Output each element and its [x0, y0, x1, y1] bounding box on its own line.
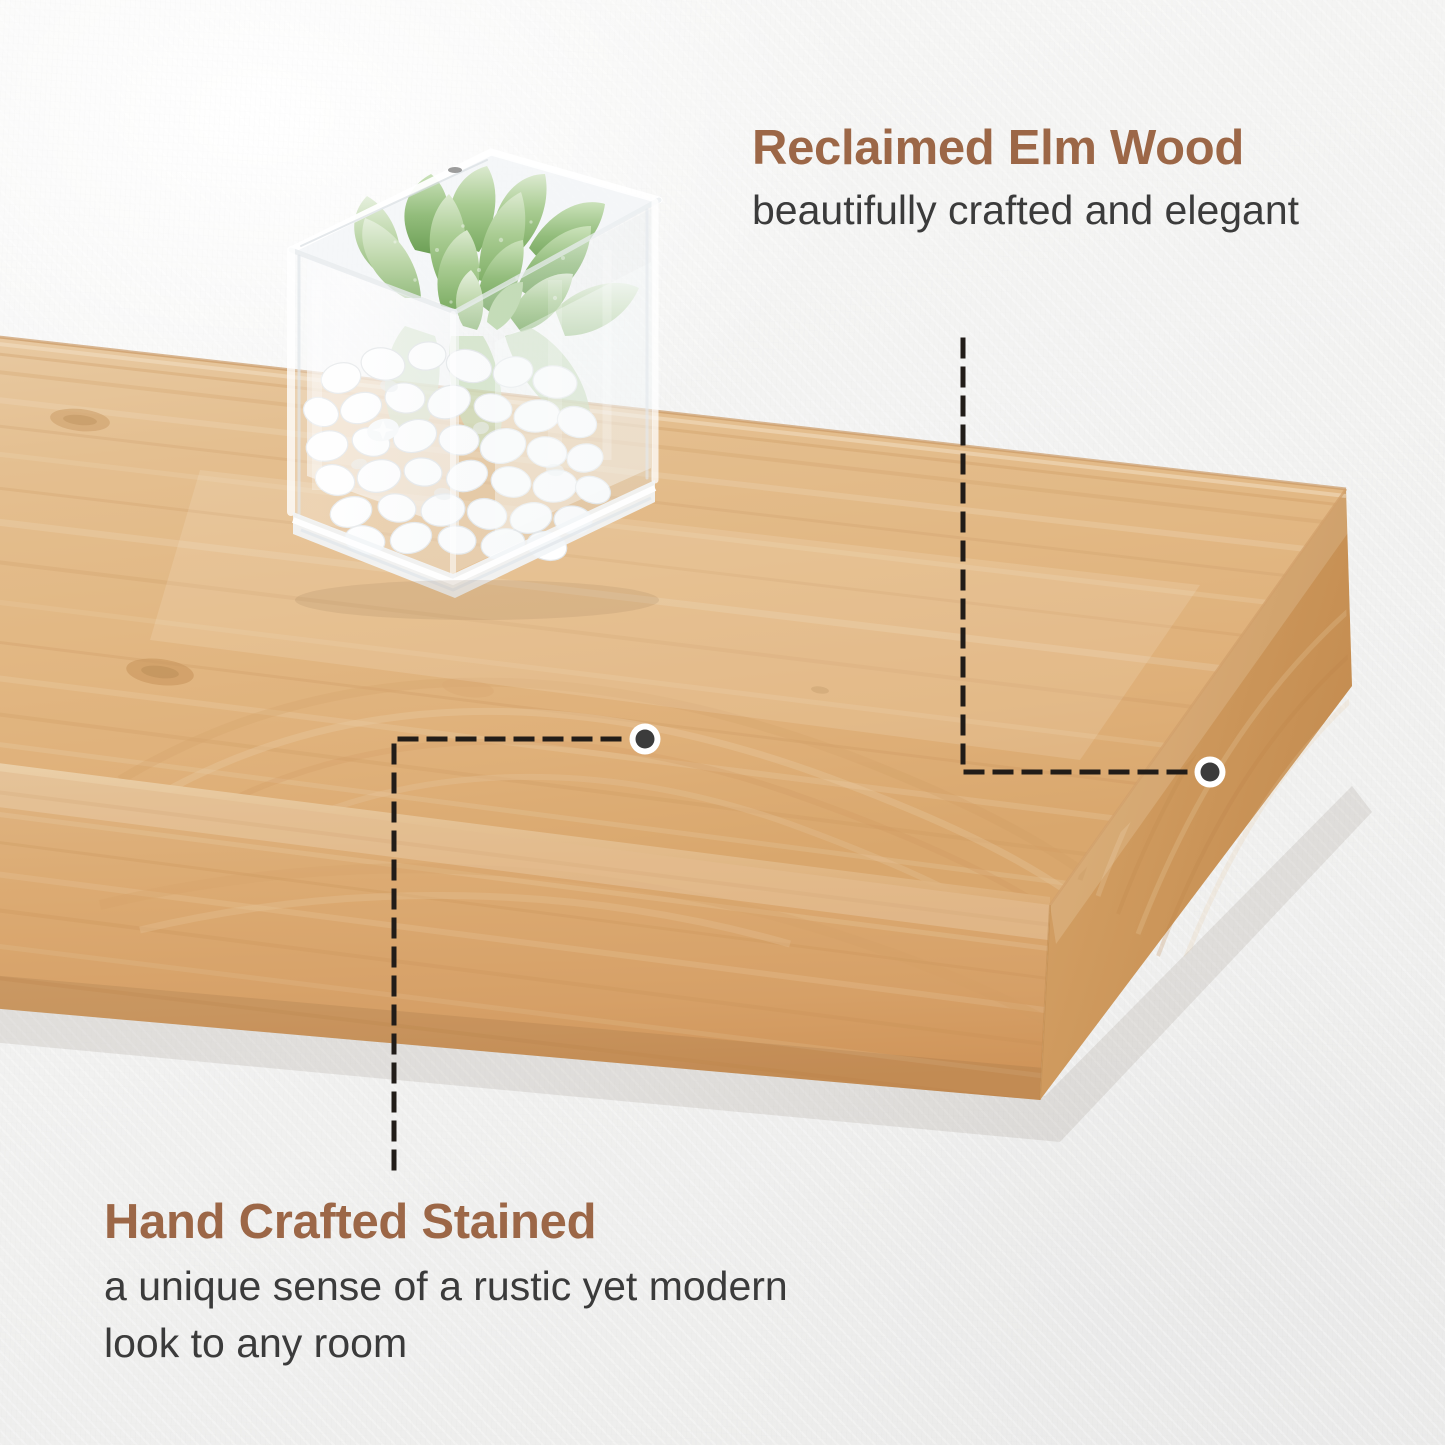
callout-heading-hand-crafted-stained: Hand Crafted Stained [104, 1192, 864, 1252]
product-feature-image: Reclaimed Elm Wood beautifully crafted a… [0, 0, 1445, 1445]
callout-hand-crafted-stained: Hand Crafted Stained a unique sense of a… [104, 1192, 864, 1372]
callout-body-reclaimed-elm-wood: beautifully crafted and elegant [752, 182, 1332, 239]
callout-heading-reclaimed-elm-wood: Reclaimed Elm Wood [752, 118, 1352, 178]
rim-speck [448, 167, 462, 173]
succulent-in-glass-vase [255, 130, 695, 620]
callout-reclaimed-elm-wood: Reclaimed Elm Wood beautifully crafted a… [752, 118, 1352, 239]
callout-body-hand-crafted-stained: a unique sense of a rustic yet modern lo… [104, 1258, 844, 1372]
